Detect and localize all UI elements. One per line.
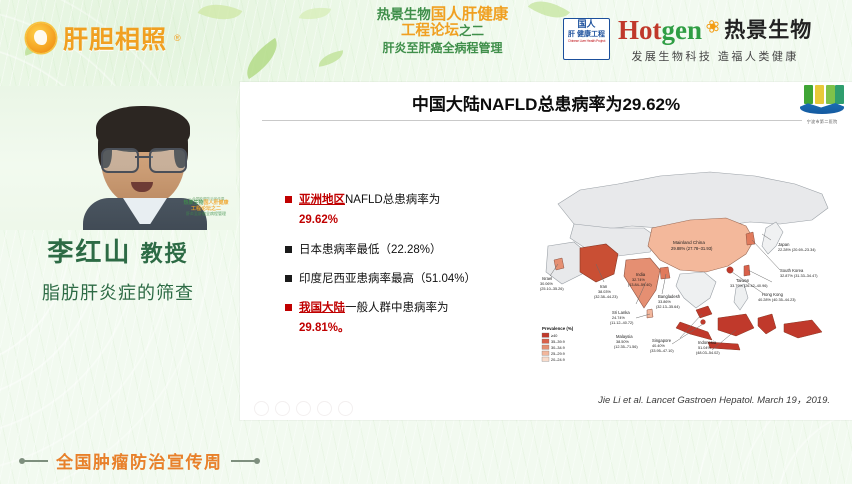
map-label-singapore: Singapore xyxy=(652,338,672,343)
hospital-logo-caption: 宁波市第二医院 xyxy=(798,119,846,125)
map-label-hong-kong: Hong Kong xyxy=(762,292,784,297)
map-region-indonesia-papua xyxy=(784,320,822,338)
map-region-mainland-china xyxy=(648,218,754,272)
map-region-indonesia-sumatra xyxy=(676,322,712,340)
map-region-iran xyxy=(580,244,618,282)
page-footer: 全国肿瘤防治宣传周 xyxy=(0,434,852,484)
forum-line2-suffix: 之二 xyxy=(459,24,484,38)
gov-logo-top: 国人 xyxy=(564,19,609,30)
map-label-south-korea: South Korea xyxy=(780,268,804,273)
map-label-singapore-ci: (33.95–47.10) xyxy=(650,349,674,353)
legend-label: 20–24.9 xyxy=(551,358,565,362)
decoration-dot xyxy=(338,401,353,416)
logo-bar-teal xyxy=(835,85,844,104)
logo-bar-yellow xyxy=(815,85,824,104)
map-label-israel-value: 30.06% xyxy=(540,282,554,286)
legend-title: Prevalence (%) xyxy=(542,326,574,331)
china-liver-health-project-logo: 国人 肝 健康工程 Chinese Liver Health Project xyxy=(563,18,610,60)
map-label-hong-kong-value: 40.28% (40.35–44.23) xyxy=(758,298,796,302)
slide-title: 中国大陆NAFLD总患病率为29.62% xyxy=(240,90,852,115)
map-label-malaysia-value: 38.50% xyxy=(616,340,630,344)
registered-mark: ® xyxy=(174,33,181,43)
asia-prevalence-map: Mainland China 29.88% (27.78–31.93) Japa… xyxy=(540,142,840,382)
gov-logo-bottom: Chinese Liver Health Project xyxy=(564,39,609,44)
legend-swatch xyxy=(542,345,549,349)
map-label-iran-ci: (32.38–44.23) xyxy=(594,295,618,299)
bullet-body: 一般人群中患病率为 xyxy=(345,302,449,314)
hotgen-cn-name: 热景生物 xyxy=(724,14,812,44)
bullet-item: 日本患病率最低（22.28%） xyxy=(285,242,490,259)
legend-label: 35–39.9 xyxy=(551,340,565,344)
bullet-marker-red xyxy=(285,304,292,311)
liver-shield-icon xyxy=(26,23,56,53)
bullet-item: 亚洲地区NAFLD总患病率为 29.62% xyxy=(285,192,490,230)
glasses-icon xyxy=(101,148,187,170)
bullet-text: 我国大陆一般人群中患病率为 29.81%。 xyxy=(299,300,449,338)
map-label-south-korea-value: 32.87% (31.33–34.47) xyxy=(780,274,818,278)
speaker-info: 李红山 教授 脂肪肝炎症的筛查 xyxy=(0,232,236,305)
map-label-bangladesh: Bangladesh xyxy=(658,294,681,299)
hotgen-logo: Hotgen ❀ 热景生物 发展生物科技 造福人类健康 xyxy=(618,14,812,64)
map-label-sri-lanka: Sri Lanka xyxy=(612,310,630,315)
legend-swatch xyxy=(542,357,549,361)
hotgen-hot: Hot xyxy=(618,15,662,45)
legend-label: 25–29.9 xyxy=(551,352,565,356)
map-region-indonesia-borneo xyxy=(718,314,754,336)
forum-line-3: 肝炎至肝癌全病程管理 xyxy=(335,42,550,55)
map-label-indonesia-ci: (48.03–54.02) xyxy=(696,351,720,355)
map-label-india: India xyxy=(636,272,646,277)
decoration-dot xyxy=(275,401,290,416)
footer-dash-right-icon xyxy=(231,460,257,462)
map-label-iran-value: 38.03% xyxy=(598,290,612,294)
legend-label: 30–34.9 xyxy=(551,346,565,350)
broadcast-screen: 肝胆相照 ® 热景生物国人肝健康 工程论坛之二 肝炎至肝癌全病程管理 国人 肝 … xyxy=(0,0,852,484)
brand-logo-gandanxiangzhao: 肝胆相照 ® xyxy=(26,20,181,56)
forum-line1-prefix: 热景生物 xyxy=(377,7,431,22)
hospital-logo-bars xyxy=(804,85,844,105)
map-label-singapore-value: 40.40% xyxy=(652,344,666,348)
gov-logo-mid: 肝 健康工程 xyxy=(564,30,609,39)
glasses-left-lens xyxy=(101,148,139,173)
map-label-israel-ci: (25.10–35.26) xyxy=(540,287,564,291)
map-label-india-value: 32.74% xyxy=(632,278,646,282)
hotgen-tagline: 发展生物科技 造福人类健康 xyxy=(618,48,812,64)
map-region-singapore xyxy=(701,320,706,325)
slide-citation: Jie Li et al. Lancet Gastroen Hepatol. M… xyxy=(598,392,830,406)
map-label-mainland-china-value: 29.88% (27.78–31.93) xyxy=(671,246,713,251)
hotgen-wordmark: Hotgen xyxy=(618,17,702,44)
bullet-marker-black xyxy=(285,246,292,253)
map-label-taiwan-value: 33.79% (26.42–40.96) xyxy=(730,284,768,288)
map-label-sri-lanka-value: 24.74% xyxy=(612,316,626,320)
speaker-name: 李红山 xyxy=(47,237,131,267)
logo-bar-lightgreen xyxy=(826,85,835,104)
map-region-indonesia-sulawesi xyxy=(758,314,776,334)
footer-dash-left-icon xyxy=(22,460,48,462)
hotgen-row: Hotgen ❀ 热景生物 xyxy=(618,14,812,44)
forum-line2-main: 工程论坛 xyxy=(401,23,459,39)
decoration-dot xyxy=(296,401,311,416)
map-label-israel: Israel xyxy=(542,276,552,281)
map-label-mainland-china: Mainland China xyxy=(673,240,705,245)
map-region-south-korea xyxy=(746,232,755,245)
hotgen-gen: gen xyxy=(662,15,703,45)
logo-bar-green xyxy=(804,85,813,104)
bullet-highlight: 我国大陆 xyxy=(299,302,345,314)
bullet-second-line: 29.81%。 xyxy=(299,320,449,337)
map-legend: Prevalence (%) ≥40 35–39.9 30–34.9 25–29… xyxy=(542,326,574,362)
map-region-bangladesh xyxy=(660,267,670,279)
forum-title-block: 热景生物国人肝健康 工程论坛之二 肝炎至肝癌全病程管理 xyxy=(335,6,550,55)
map-label-malaysia: Malaysia xyxy=(616,334,633,339)
butterfly-icon: ❀ xyxy=(703,15,723,38)
decoration-dot xyxy=(254,401,269,416)
map-label-malaysia-ci: (12.35–71.56) xyxy=(614,345,638,349)
hospital-logo: 宁波市第二医院 xyxy=(798,85,846,125)
footer-text: 全国肿瘤防治宣传周 xyxy=(56,448,223,473)
map-label-japan: Japan xyxy=(778,242,790,247)
map-label-bangladesh-ci: (32.13–35.64) xyxy=(656,305,680,309)
map-region-se-asia xyxy=(676,272,716,308)
presentation-slide[interactable]: 中国大陆NAFLD总患病率为29.62% 宁波市第二医院 亚洲地区NAFLD总患… xyxy=(240,82,852,420)
speaker-title: 教授 xyxy=(141,241,189,266)
map-label-sri-lanka-ci: (11.12–40.72) xyxy=(610,321,634,325)
map-label-bangladesh-value: 33.86% xyxy=(658,300,672,304)
map-region-sri-lanka xyxy=(647,309,653,318)
speaker-name-row: 李红山 教授 xyxy=(0,232,236,269)
slide-bullet-list: 亚洲地区NAFLD总患病率为 29.62% 日本患病率最低（22.28%） 印度… xyxy=(285,192,490,350)
bullet-text: 亚洲地区NAFLD总患病率为 29.62% xyxy=(299,192,440,230)
map-label-indonesia-value: 51.04% xyxy=(698,346,712,350)
page-header: 肝胆相照 ® 热景生物国人肝健康 工程论坛之二 肝炎至肝癌全病程管理 国人 肝 … xyxy=(0,0,852,78)
map-label-india-ci: (13.84–59.40) xyxy=(628,283,652,287)
map-label-indonesia: Indonesia xyxy=(698,340,717,345)
glasses-right-lens xyxy=(149,148,187,173)
map-label-japan-value: 22.28% (20.69–23.34) xyxy=(778,248,816,252)
brand-wordmark: 肝胆相照 xyxy=(63,20,167,56)
footer-banner: 全国肿瘤防治宣传周 xyxy=(22,448,257,473)
video-watermark: 一 全国肿瘤防治宣传周 热景生物国人肝健康 工程论坛之二 肝炎至肝癌全病程管理 xyxy=(180,198,232,216)
bullet-body: NAFLD总患病率为 xyxy=(345,194,440,206)
bullet-body: 日本患病率最低（22.28%） xyxy=(299,242,442,259)
legend-swatch xyxy=(542,339,549,343)
map-svg: Mainland China 29.88% (27.78–31.93) Japa… xyxy=(540,142,840,382)
slide-decoration-dots xyxy=(254,401,353,416)
speaker-video-feed[interactable]: 一 全国肿瘤防治宣传周 热景生物国人肝健康 工程论坛之二 肝炎至肝癌全病程管理 xyxy=(0,86,236,230)
bullet-highlight: 亚洲地区 xyxy=(299,194,345,206)
map-region-malaysia xyxy=(696,306,712,318)
bullet-item: 我国大陆一般人群中患病率为 29.81%。 xyxy=(285,300,490,338)
bullet-marker-red xyxy=(285,196,292,203)
speaker-topic: 脂肪肝炎症的筛查 xyxy=(0,279,236,305)
map-label-iran: Iran xyxy=(600,284,608,289)
bullet-second-line: 29.62% xyxy=(299,212,440,229)
forum-line-2: 工程论坛之二 xyxy=(335,23,550,39)
bullet-item: 印度尼西亚患病率最高（51.04%） xyxy=(285,271,490,288)
legend-swatch xyxy=(542,351,549,355)
bullet-marker-black xyxy=(285,275,292,282)
legend-label: ≥40 xyxy=(551,334,557,338)
decoration-dot xyxy=(317,401,332,416)
forum-line-1: 热景生物国人肝健康 xyxy=(335,6,550,23)
avatar-hair xyxy=(96,106,190,152)
slide-title-divider xyxy=(262,120,802,121)
legend-swatch xyxy=(542,333,549,337)
forum-line1-highlight: 国人肝健康 xyxy=(431,6,509,23)
bullet-body: 印度尼西亚患病率最高（51.04%） xyxy=(299,271,476,288)
map-label-taiwan: Taiwan xyxy=(736,278,750,283)
video-watermark-line4: 肝炎至肝癌全病程管理 xyxy=(180,212,232,216)
